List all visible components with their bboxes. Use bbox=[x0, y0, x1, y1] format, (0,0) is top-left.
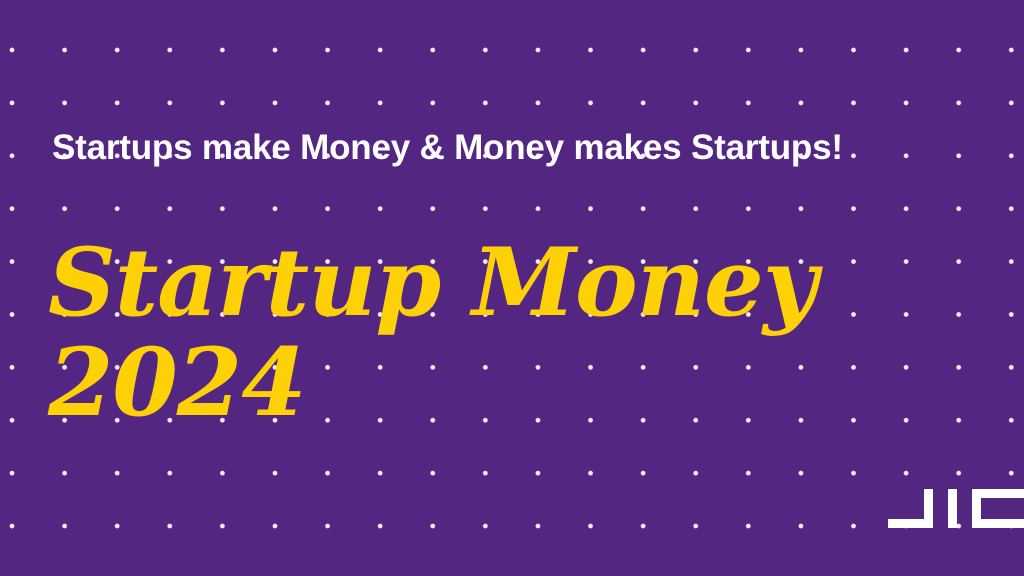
logo-letter-i-icon bbox=[948, 489, 957, 528]
logo-letter-c-icon bbox=[972, 489, 1024, 528]
jic-logo bbox=[888, 489, 1024, 528]
logo-letter-j-icon bbox=[888, 489, 933, 528]
slide-title-line-2: 2024 bbox=[48, 333, 948, 433]
slide-title-line-1: Startup Money bbox=[48, 233, 948, 333]
presentation-slide: Startups make Money & Money makes Startu… bbox=[0, 0, 1024, 576]
slide-title: Startup Money 2024 bbox=[48, 233, 948, 433]
slide-headline: Startups make Money & Money makes Startu… bbox=[52, 127, 972, 169]
